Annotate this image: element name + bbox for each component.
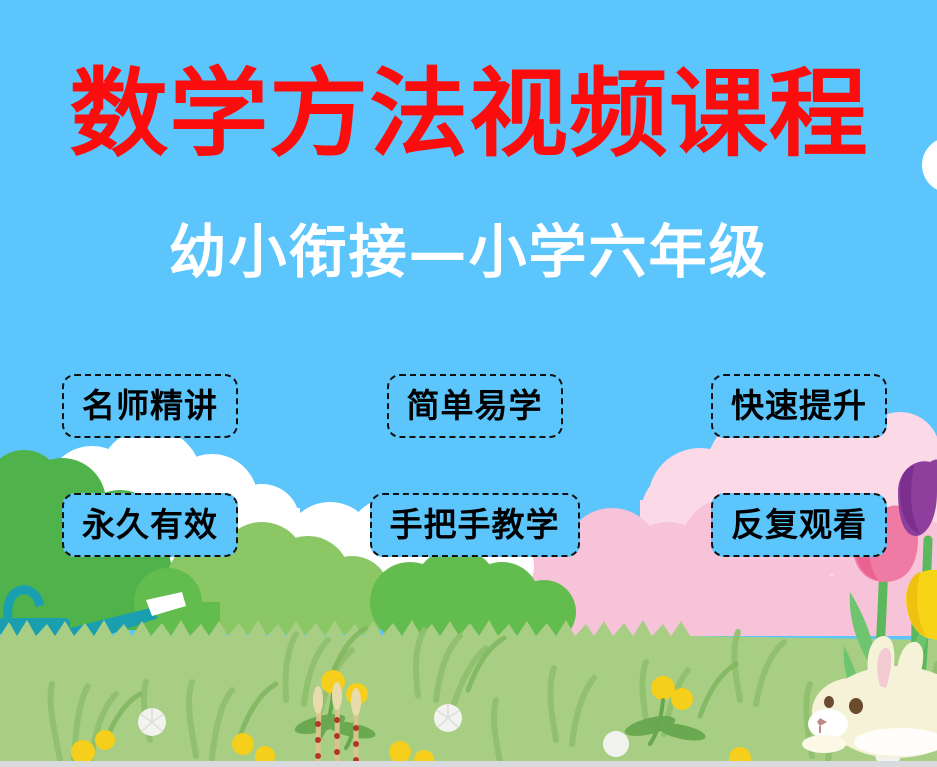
poster-canvas: 数学方法视频课程 幼小衔接—小学六年级 名师精讲 简单易学 快速提升 永久有效 … xyxy=(0,0,937,767)
badge-slot: 永久有效 xyxy=(0,493,337,557)
subtitle-container: 幼小衔接—小学六年级 xyxy=(0,218,937,286)
bottom-edge-strip xyxy=(0,761,937,767)
feature-badge-row: 名师精讲 简单易学 快速提升 xyxy=(0,368,937,444)
watering-can xyxy=(0,590,186,712)
badge-slot: 反复观看 xyxy=(612,493,937,557)
main-title-container: 数学方法视频课程 xyxy=(0,62,937,166)
feature-badge-jian-dan-yi-xue[interactable]: 简单易学 xyxy=(387,374,563,438)
tulip-yellow xyxy=(906,570,937,640)
badge-slot: 名师精讲 xyxy=(0,374,337,438)
badge-slot: 简单易学 xyxy=(337,374,612,438)
grass-field xyxy=(0,620,937,767)
badge-slot: 快速提升 xyxy=(612,374,937,438)
feature-badge-kuai-su-ti-sheng[interactable]: 快速提升 xyxy=(711,374,887,438)
feature-badge-shou-ba-shou-jiao-xue[interactable]: 手把手教学 xyxy=(370,493,580,557)
badge-slot: 手把手教学 xyxy=(337,493,612,557)
feature-badge-grid: 名师精讲 简单易学 快速提升 永久有效 手把手教学 反复观看 xyxy=(0,368,937,563)
feature-badge-fan-fu-guan-kan[interactable]: 反复观看 xyxy=(711,493,887,557)
feature-badge-yong-jiu-you-xiao[interactable]: 永久有效 xyxy=(62,493,238,557)
feature-badge-row: 永久有效 手把手教学 反复观看 xyxy=(0,487,937,563)
feature-badge-ming-shi-jing-jiang[interactable]: 名师精讲 xyxy=(62,374,238,438)
rabbit xyxy=(802,636,937,758)
dandelion-flowers xyxy=(71,670,901,767)
page-title: 数学方法视频课程 xyxy=(69,62,868,166)
page-subtitle: 幼小衔接—小学六年级 xyxy=(168,218,768,286)
